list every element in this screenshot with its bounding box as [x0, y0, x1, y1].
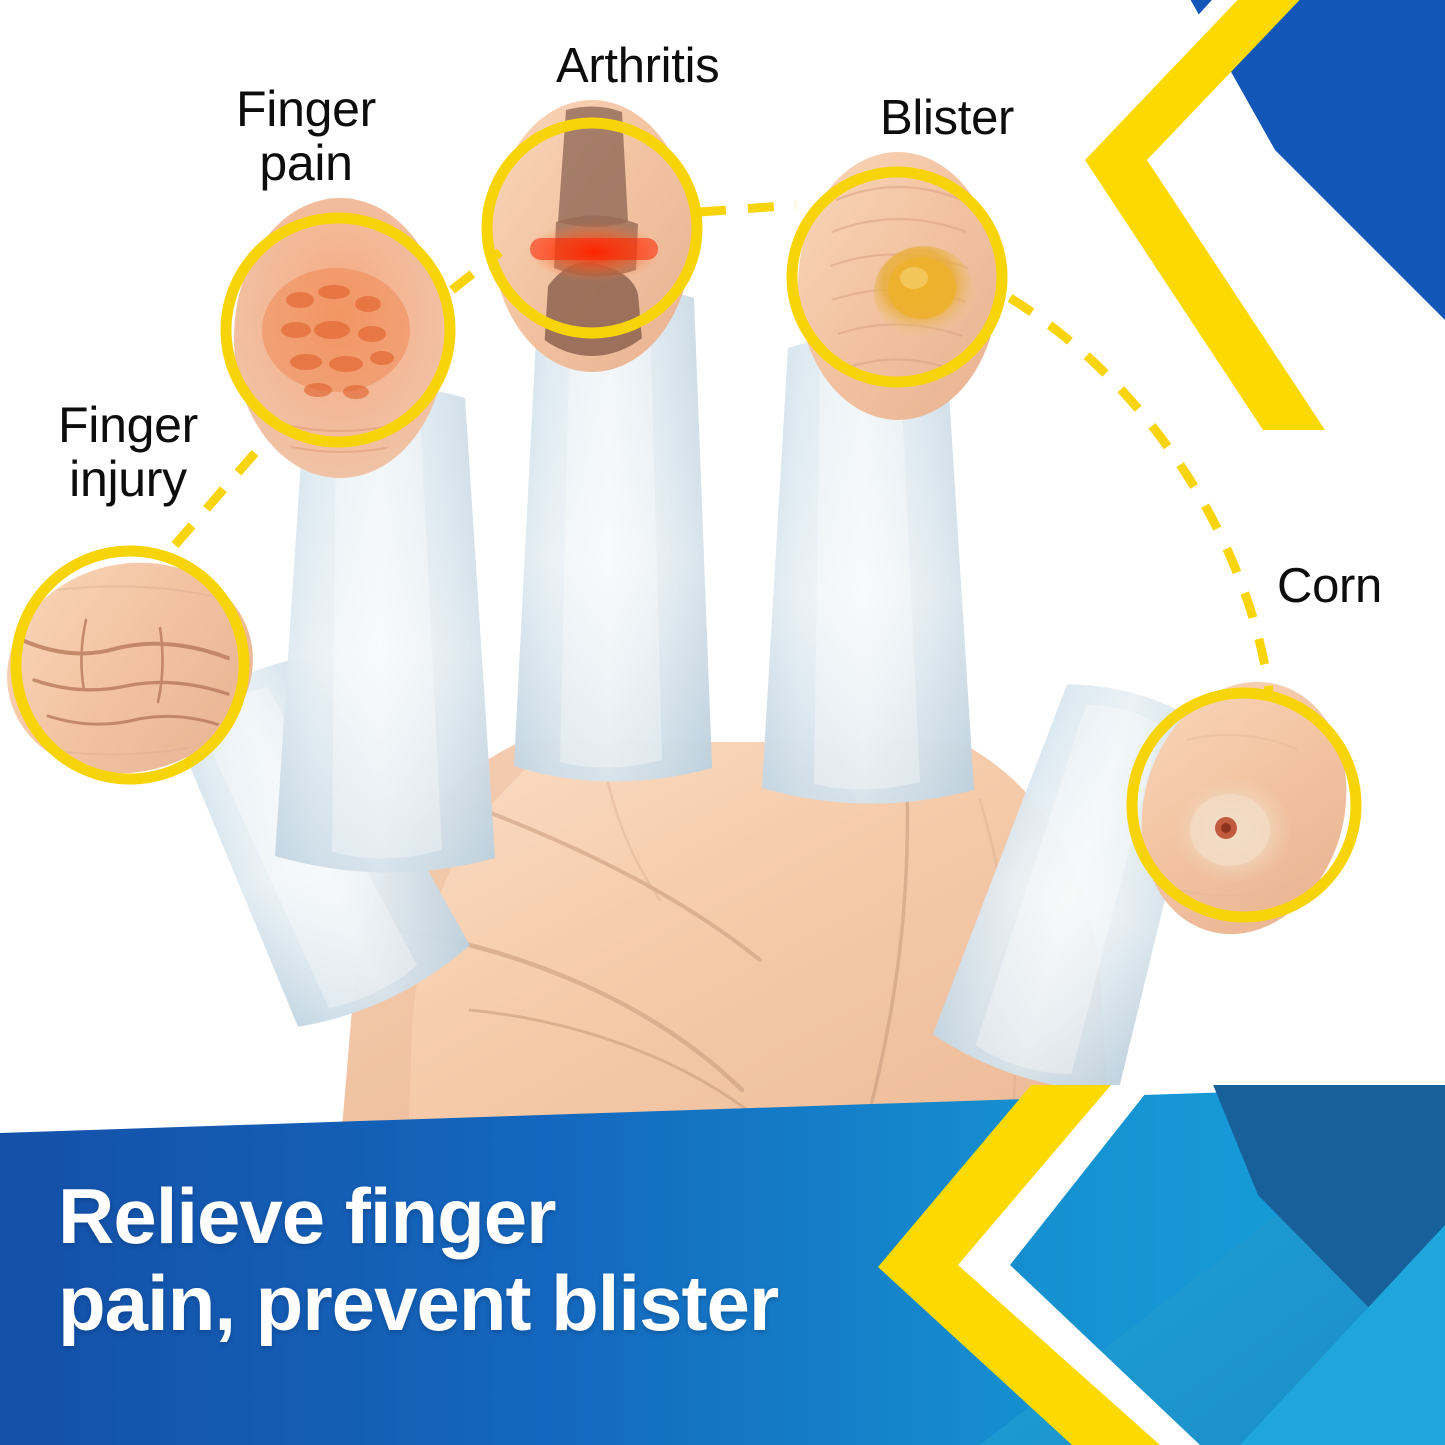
ring-arthritis: [487, 123, 697, 333]
callout-label-arthritis: Arthritis: [556, 40, 719, 93]
ring-corn: [1132, 693, 1356, 917]
ring-finger-pain: [226, 218, 450, 442]
product-infographic: Finger pain Arthritis Blister Finger inj…: [0, 0, 1445, 1445]
bottom-headline-banner: Relieve finger pain, prevent blister: [0, 1085, 1445, 1445]
highlight-circle-icon: [16, 123, 1356, 917]
callout-label-finger-injury: Finger injury: [18, 398, 238, 506]
callout-label-blister: Blister: [880, 92, 1014, 145]
ring-finger-injury: [16, 551, 244, 779]
callout-label-finger-pain: Finger pain: [186, 82, 426, 190]
callout-label-corn: Corn: [1277, 560, 1382, 613]
headline-text: Relieve finger pain, prevent blister: [58, 1173, 958, 1348]
ring-blister: [792, 172, 1002, 382]
dashed-connector-icon: [175, 205, 1270, 700]
